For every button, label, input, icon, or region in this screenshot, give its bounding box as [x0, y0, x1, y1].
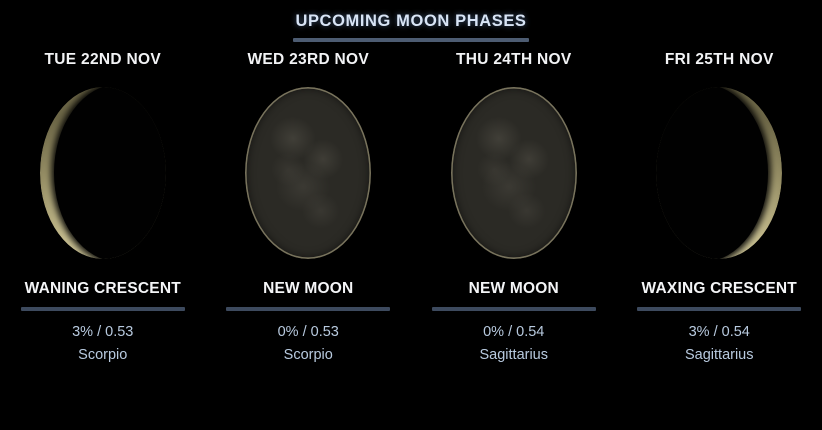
new-moon-icon — [245, 87, 371, 259]
waxing-crescent-moon-icon — [656, 87, 782, 259]
moon-phase-card-2[interactable]: THU 24TH NOV NEW MOON 0% / 0.54 Sagittar… — [411, 51, 617, 363]
illumination-age: 0% / 0.54 — [483, 324, 544, 340]
date-label: THU 24TH NOV — [456, 51, 572, 69]
zodiac-sign: Sagittarius — [685, 347, 754, 363]
new-moon-icon — [451, 87, 577, 259]
page-title: UPCOMING MOON PHASES — [295, 13, 526, 30]
title-underline — [293, 38, 529, 42]
phase-name: NEW MOON — [469, 280, 559, 298]
zodiac-sign: Scorpio — [284, 347, 333, 363]
phase-name: WANING CRESCENT — [25, 280, 181, 298]
date-label: TUE 22ND NOV — [45, 51, 161, 69]
widget-header: UPCOMING MOON PHASES — [0, 0, 822, 42]
illumination-age: 3% / 0.54 — [689, 324, 750, 340]
moon-image-0 — [18, 80, 188, 266]
phase-underline — [21, 307, 185, 311]
waning-crescent-moon-icon — [40, 87, 166, 259]
moon-image-2 — [429, 80, 599, 266]
moon-phase-card-1[interactable]: WED 23RD NOV NEW MOON 0% / 0.53 Scorpio — [206, 51, 412, 363]
date-label: FRI 25TH NOV — [665, 51, 774, 69]
phase-underline — [226, 307, 390, 311]
moon-image-1 — [223, 80, 393, 266]
phase-underline — [637, 307, 801, 311]
zodiac-sign: Scorpio — [78, 347, 127, 363]
moon-phases-widget: { "header": { "title": "UPCOMING MOON PH… — [0, 0, 822, 430]
phase-name: NEW MOON — [263, 280, 353, 298]
phase-name: WAXING CRESCENT — [642, 280, 797, 298]
moon-phase-card-0[interactable]: TUE 22ND NOV WANING CRESCENT 3% / 0.53 S… — [0, 51, 206, 363]
date-label: WED 23RD NOV — [247, 51, 369, 69]
zodiac-sign: Sagittarius — [479, 347, 548, 363]
moon-phase-columns: TUE 22ND NOV WANING CRESCENT 3% / 0.53 S… — [0, 51, 822, 363]
illumination-age: 0% / 0.53 — [278, 324, 339, 340]
moon-phase-card-3[interactable]: FRI 25TH NOV WAXING CRESCENT 3% / 0.54 S… — [617, 51, 822, 363]
phase-underline — [432, 307, 596, 311]
illumination-age: 3% / 0.53 — [72, 324, 133, 340]
moon-image-3 — [634, 80, 804, 266]
